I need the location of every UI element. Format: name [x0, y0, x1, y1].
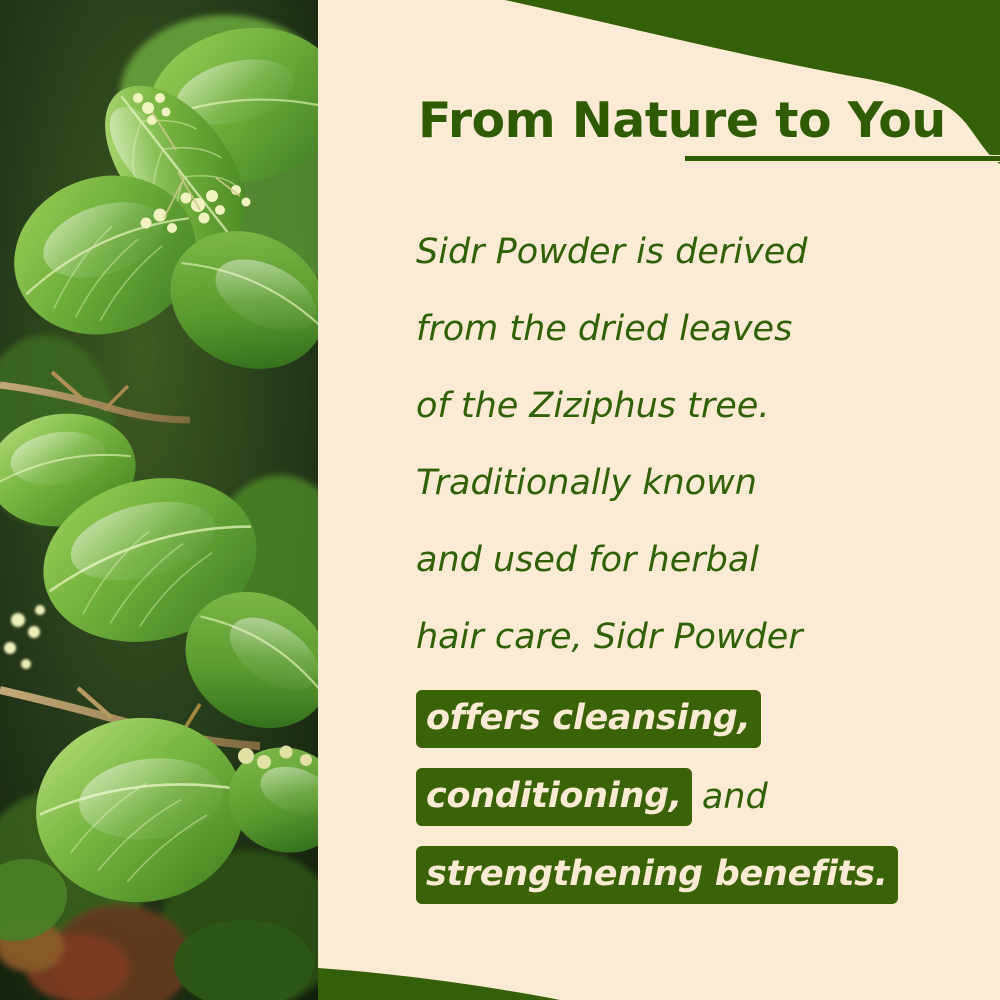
highlighted-line: offers cleansing, [416, 682, 976, 754]
body-line: and used for herbal [416, 522, 976, 599]
text-column: From Nature to You Sidr Powder is derive… [318, 0, 1000, 1000]
highlighted-line: conditioning,and [416, 760, 976, 833]
ziziphus-leaves-photo [0, 0, 318, 1000]
body-line: of the Ziziphus tree. [416, 368, 976, 445]
body-line: hair care, Sidr Powder [416, 599, 976, 676]
product-info-card: From Nature to You Sidr Powder is derive… [0, 0, 1000, 1000]
highlight-chip: offers cleansing, [416, 690, 761, 748]
description-block: Sidr Powder is derived from the dried le… [416, 214, 976, 911]
highlight-chip: conditioning, [416, 768, 692, 826]
body-line: from the dried leaves [416, 291, 976, 368]
highlighted-line: strengthening benefits. [416, 839, 976, 911]
body-line: Traditionally known [416, 445, 976, 522]
highlight-chip: strengthening benefits. [416, 846, 898, 904]
highlight-trailing-text: and [692, 777, 768, 817]
title-underline [685, 155, 1000, 162]
page-title: From Nature to You [418, 92, 946, 149]
body-line: Sidr Powder is derived [416, 214, 976, 291]
